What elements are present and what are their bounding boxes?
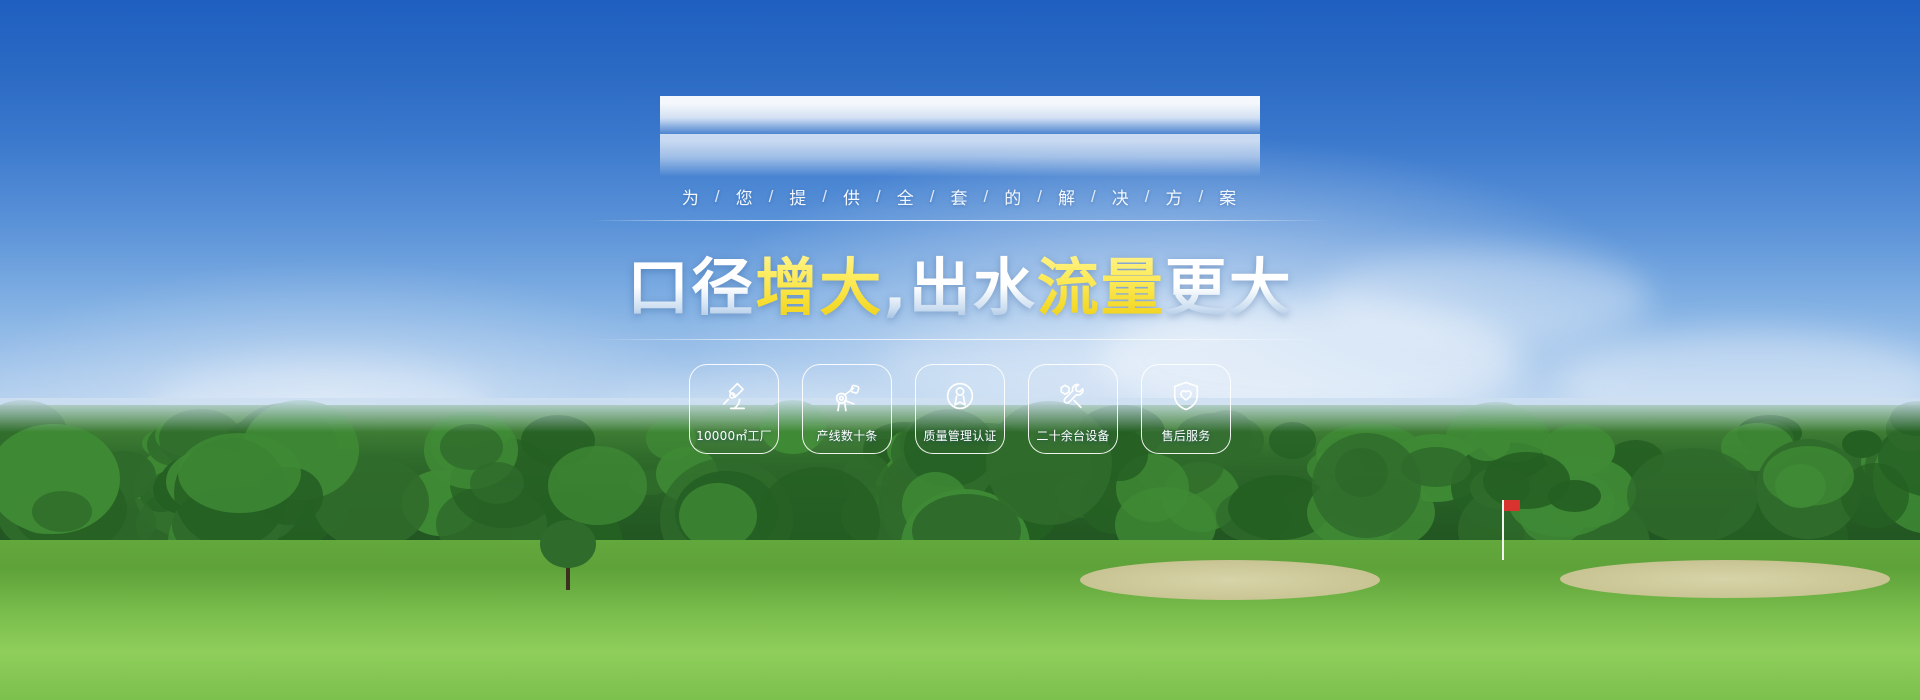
main-headline: 口径增大,出水流量更大 [627,237,1293,327]
headline-segment: 增大 [755,237,883,327]
subtitle-char: 决 [1112,184,1131,209]
subtitle-separator: / [715,187,722,207]
subtitle-separator: / [1037,187,1044,207]
subtitle-separator: / [1145,187,1152,207]
microscope-icon [716,365,752,427]
feature-badge[interactable]: 售后服务 [1141,364,1231,454]
wrench-bolt-icon [1055,365,1091,427]
banner-content: INTEGRATED SEWAGE TREATMENT 为/您/提/供/全/套/… [0,0,1920,700]
english-headings: INTEGRATED SEWAGE TREATMENT [660,96,1260,178]
feature-badge[interactable]: 10000㎡工厂 [689,364,779,454]
feature-badge-label: 售后服务 [1162,427,1211,444]
feature-badge-label: 产线数十条 [816,427,877,444]
headline-segment: 流量 [1037,237,1165,327]
feature-badge-label: 质量管理认证 [923,427,996,444]
feature-badge[interactable]: 质量管理认证 [915,364,1005,454]
hero-banner: INTEGRATED SEWAGE TREATMENT 为/您/提/供/全/套/… [0,0,1920,700]
divider-bottom [590,339,1330,340]
subtitle-char: 提 [789,184,808,209]
award-medal-icon [942,365,978,427]
subtitle-separator: / [1198,187,1205,207]
english-line-2: SEWAGE TREATMENT [660,134,1260,178]
subtitle-char: 案 [1219,184,1238,209]
divider-top [590,220,1330,221]
shield-check-icon [1168,365,1204,427]
subtitle-char: 您 [736,184,755,209]
subtitle-separator: / [769,187,776,207]
subtitle-char: 为 [682,184,701,209]
subtitle-separator: / [876,187,883,207]
subtitle-char: 解 [1058,184,1077,209]
subtitle-slashed: 为/您/提/供/全/套/的/解/决/方/案 [682,184,1238,209]
feature-badge[interactable]: 产线数十条 [802,364,892,454]
subtitle-char: 供 [843,184,862,209]
headline-segment: 口径 [627,237,755,327]
headline-segment: 更大 [1165,237,1293,327]
headline-segment: 出水 [909,237,1037,327]
feature-badge-list: 10000㎡工厂产线数十条质量管理认证二十余台设备售后服务 [689,364,1231,454]
subtitle-char: 的 [1004,184,1023,209]
subtitle-char: 全 [897,184,916,209]
machine-icon [829,365,865,427]
feature-badge[interactable]: 二十余台设备 [1028,364,1118,454]
subtitle-char: 套 [951,184,970,209]
english-line-1: INTEGRATED [660,96,1260,138]
headline-segment: , [883,251,909,324]
subtitle-char: 方 [1165,184,1184,209]
subtitle-separator: / [930,187,937,207]
subtitle-separator: / [822,187,829,207]
subtitle-separator: / [1091,187,1098,207]
feature-badge-label: 10000㎡工厂 [696,427,772,444]
subtitle-separator: / [984,187,991,207]
feature-badge-label: 二十余台设备 [1036,427,1109,444]
